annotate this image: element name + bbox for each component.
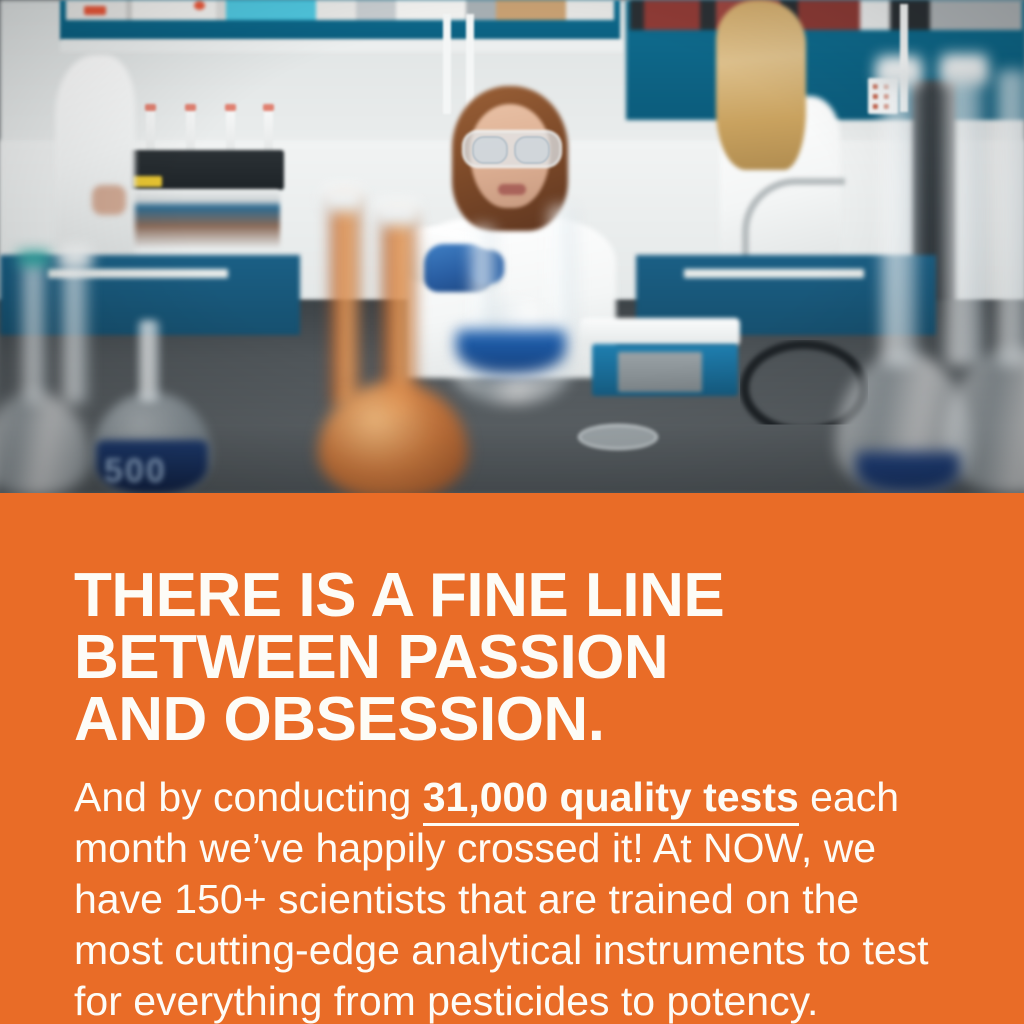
cabinet-handle-1 [443,14,451,114]
lab-shaker-top [124,150,284,190]
fg-glass-neck-g [996,70,1024,366]
shelf-label-red [84,6,106,15]
fg-glass-neck-f [944,66,984,366]
fg-cap-e [876,56,922,86]
flask-500-label: 500 [104,452,167,491]
petri-dish [578,424,658,450]
cabinet-divider [60,40,624,52]
headline-line-2: BETWEEN PASSION [74,627,974,689]
scientist-left [55,55,135,275]
fg-flask-e-liquid [856,452,960,493]
headline-line-3: AND OBSESSION. [74,689,974,751]
shelf-label-red-2 [194,1,205,10]
fg-glass-neck-e [880,66,918,366]
safety-goggles [462,130,562,168]
fg-cap-f [940,54,988,84]
page-title: THERE IS A FINE LINE BETWEEN PASSION AND… [74,565,974,751]
test-tube-2 [186,108,195,154]
fg-amber-cap-b [374,200,420,226]
fg-glass-neck-a [22,252,46,402]
scientist-left-arm [92,185,126,215]
test-tube-3 [226,108,235,154]
flask-500-neck [138,320,160,402]
fg-flask-c-liquid [456,330,566,374]
headline-line-1: THERE IS A FINE LINE [74,565,974,627]
lab-photo: 500 [0,0,1024,493]
orange-message-panel: THERE IS A FINE LINE BETWEEN PASSION AND… [0,493,1024,1024]
scientist-center-mouth [498,184,526,195]
body-text-before: And by conducting [74,774,423,820]
fg-cap-b [58,246,92,268]
lab-shaker-base [128,190,280,248]
shaker-yellow-tag [132,176,162,187]
upper-shelf-contents-left [66,0,614,20]
instrument-grey-panel [618,352,702,392]
upper-shelf-contents-right [630,0,1022,30]
fg-amber-cap-a [322,186,364,212]
scientist-right-hair [716,0,806,170]
social-graphic-canvas: 500 THERE IS A FINE LINE BETWEEN PASSION… [0,0,1024,1024]
body-paragraph: And by conducting 31,000 quality tests e… [74,772,954,1024]
fg-glass-neck-b [62,258,88,404]
fg-glass-neck-d [548,206,576,334]
fg-teal-cap-a [18,252,50,265]
instrument-white-top [580,318,740,346]
quality-tests-highlight: 31,000 quality tests [423,774,799,826]
test-tube-4 [264,108,273,154]
fg-amber-neck-a [330,196,360,406]
test-tube-1 [146,108,155,154]
